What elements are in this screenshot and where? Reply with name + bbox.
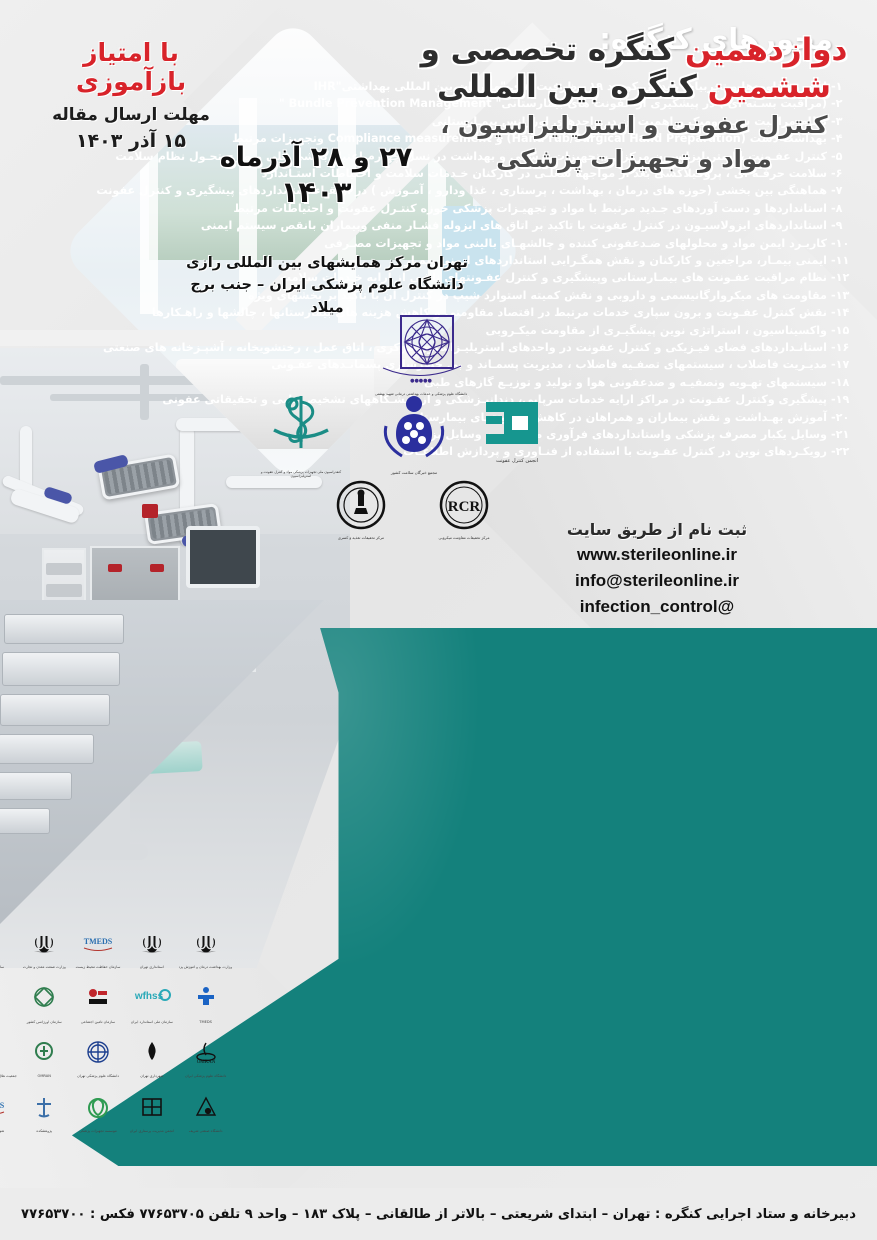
tehran-university-of-medical-sciences-logo-mark — [85, 1040, 111, 1068]
omran-logo: OMRAN — [18, 1027, 71, 1081]
svg-text:OMRAN: OMRAN — [196, 1060, 215, 1064]
tehran-governorate-emblem: استانداری تهران — [125, 918, 178, 972]
title-ordinal-twelfth: دوازدهمین — [685, 32, 847, 68]
iran-university-of-medical-sciences-logo-mark: OMRAN — [191, 1040, 221, 1068]
event-date-line-2: ۱۴۰۳ — [182, 175, 450, 209]
wfhss-logo: WFHSS — [0, 973, 17, 1027]
organizer-logos: ●●●●● دانشگاه علوم پزشکی و خدمات بهداشتی… — [267, 312, 597, 544]
topic-number: ۱۷- — [831, 359, 861, 370]
tehran-municipality-logo: شهرداری تهران — [125, 1027, 178, 1081]
registration-email-1[interactable]: info@sterileonline.ir — [507, 571, 807, 591]
omran-logo-caption: OMRAN — [18, 1074, 71, 1078]
ministry-of-health-emblem-caption: وزارت بهداشت درمان و آموزش پزشکی — [179, 965, 232, 969]
emergency-organization-logo-caption: سازمان اورژانس کشور — [18, 1020, 71, 1024]
medical-equipment-institute-logo: موسسه تجهیزات پزشکی — [72, 1082, 125, 1136]
iran-university-of-medical-sciences-logo: OMRANدانشگاه علوم پزشکی ایران — [179, 1027, 232, 1081]
iran-university-of-medical-sciences-logo-caption: دانشگاه علوم پزشکی ایران — [179, 1074, 232, 1078]
wfhss-logo-mark — [0, 985, 3, 1013]
environment-organization-logo-mark: TMEDS — [78, 933, 118, 957]
title-ordinal-sixth: ششمین — [708, 69, 831, 105]
environment-organization-logo: TMEDSسازمان حفاظت محیط زیست — [72, 918, 125, 972]
svg-text:●●●●●: ●●●●● — [410, 378, 432, 384]
social-security-organization-logo-mark — [85, 985, 111, 1013]
standard-organization-logo: wfhssسازمان ملی استاندارد ایران — [125, 973, 178, 1027]
tmeds-logo-caption: TMEDS — [179, 1020, 232, 1024]
environment-organization-logo-caption: سازمان حفاظت محیط زیست — [72, 965, 125, 969]
tehran-municipality-logo-caption: شهرداری تهران — [125, 1074, 178, 1078]
topic-number: ۱۴- — [831, 307, 861, 318]
wfhss-logo-caption: WFHSS — [0, 1020, 17, 1024]
emergency-organization-logo-mark — [31, 985, 57, 1013]
standard-organization-logo-mark: wfhss — [133, 986, 171, 1012]
topic-number: ۱۸- — [831, 377, 861, 388]
topic-number: ۱۱- — [831, 255, 861, 266]
topic-number: ۷- — [831, 185, 861, 196]
tehran-university-of-medical-sciences-logo: دانشگاه علوم پزشکی تهران — [72, 1027, 125, 1081]
congress-poster: با امتیاز بازآموزی مهلت ارسال مقاله ۱۵ آ… — [0, 0, 877, 1240]
ministry-of-health-emblem-mark — [194, 932, 218, 958]
health-experts-assembly-logo: مجمع خبرگان سلامت کشور — [359, 392, 469, 475]
red-crescent-logo: جمعیت هلال احمر جمهوری اسلامی ایران — [0, 1027, 17, 1081]
sharif-university-logo-caption: دانشگاه صنعتی شریف — [179, 1129, 232, 1133]
nutrition-research-center-logo: مرکز تحقیقات تغذیه و کسری — [315, 480, 407, 541]
svg-text:TMEDS: TMEDS — [84, 937, 113, 946]
medical-equipment-institute-logo-mark — [85, 1095, 111, 1123]
infection-control-association-caption: انجمن کنترل عفونت — [463, 458, 571, 464]
svg-text:TMEDS: TMEDS — [0, 1101, 5, 1110]
food-and-drug-administration-logo-mark — [0, 931, 3, 959]
registration-website[interactable]: www.sterileonline.ir — [507, 545, 807, 565]
tehran-governorate-emblem-mark — [140, 932, 164, 958]
topic-number: ۹- — [831, 220, 861, 231]
shahid-beheshti-university-logo: ●●●●● دانشگاه علوم پزشکی و خدمات بهداشتی… — [351, 312, 491, 396]
microbial-research-center-logo: RCR مرکز تحقیقات مقاومت میکروبی — [413, 480, 515, 541]
medical-equipment-institute-logo-caption: موسسه تجهیزات پزشکی — [72, 1129, 125, 1133]
nutrition-research-center-caption: مرکز تحقیقات تغذیه و کسری — [315, 536, 407, 541]
accreditation-label: با امتیاز بازآموزی — [25, 38, 237, 96]
topic-number: ۱۶- — [831, 342, 861, 353]
topic-number: ۲۲- — [831, 446, 861, 457]
topic-number: ۸- — [831, 203, 861, 214]
municipality-council-logo-mark: TMEDS — [0, 1097, 10, 1121]
research-institute-logo-caption: پژوهشکده — [18, 1129, 71, 1133]
nurses-association-logo-caption: انجمن مدیریت پرستاری ایران — [125, 1129, 178, 1133]
tehran-university-of-medical-sciences-logo-caption: دانشگاه علوم پزشکی تهران — [72, 1074, 125, 1078]
topic-text: کاربـرد ایمن مواد و محلولهای ضـدعفونی کن… — [324, 238, 827, 249]
tmeds-logo-mark — [193, 985, 219, 1013]
ministry-of-industry-emblem-mark — [32, 932, 56, 958]
svg-text:RCR: RCR — [448, 499, 481, 515]
topic-number: ۲۱- — [831, 429, 861, 440]
tehran-governorate-emblem-caption: استانداری تهران — [125, 965, 178, 969]
svg-text:wfhss: wfhss — [134, 991, 164, 1002]
topic-number: ۱۹- — [831, 394, 861, 405]
topic-number: ۱۳- — [831, 290, 861, 301]
topic-item: ۹-استانداردهای ایزولاسیـون در کنترل عفون… — [10, 217, 861, 234]
research-institute-logo-mark — [31, 1095, 57, 1123]
nurses-association-logo-mark — [139, 1095, 165, 1123]
omran-logo-mark — [31, 1040, 57, 1068]
topic-item: ۱۰-کاربـرد ایمن مواد و محلولهای ضـدعفونی… — [10, 235, 861, 252]
topic-number: ۱۲- — [831, 272, 861, 283]
registration-title: ثبت نام از طریق سایت — [507, 520, 807, 539]
title-subject-line-2: مواد و تجهیزات پزشکی — [409, 145, 859, 173]
social-security-organization-logo: سازمان تامین اجتماعی — [72, 973, 125, 1027]
sponsor-logos-grid: وزارت بهداشت درمان و آموزش پزشکی استاندا… — [0, 918, 232, 1190]
secretariat-address: دبیرخانه و ستاد اجرایی کنگره : تهران – ا… — [21, 1207, 856, 1222]
registration-info: ثبت نام از طریق سایت www.sterileonline.i… — [507, 520, 807, 617]
title-line-2: ششمین کنگره بین المللی — [409, 69, 859, 106]
accreditation-badge: با امتیاز بازآموزی مهلت ارسال مقاله ۱۵ آ… — [25, 38, 237, 152]
topic-number: ۲۰- — [831, 412, 861, 423]
red-crescent-logo-mark — [0, 1040, 3, 1068]
infection-control-association-logo: انجمن کنترل عفونت — [463, 394, 571, 464]
tehran-municipality-logo-mark — [139, 1040, 165, 1068]
registration-email-2[interactable]: infection_control@ — [507, 597, 807, 617]
food-and-drug-administration-logo-caption: سازمان غذا و دارو — [0, 965, 17, 969]
standard-organization-logo-caption: سازمان ملی استاندارد ایران — [125, 1020, 178, 1024]
title-line-1-rest: کنگره تخصصی و — [421, 32, 675, 68]
food-and-drug-administration-logo: سازمان غذا و دارو — [0, 918, 17, 972]
microbial-research-center-caption: مرکز تحقیقات مقاومت میکروبی — [413, 536, 515, 541]
ministry-of-industry-emblem: وزارت صنعت معدن و تجارت — [18, 918, 71, 972]
health-experts-assembly-caption: مجمع خبرگان سلامت کشور — [359, 470, 469, 475]
municipality-council-logo: TMEDSشورای شهر تهران — [0, 1082, 17, 1136]
event-venue: تهران مرکز همایشهای بین المللی رازی دانش… — [172, 252, 482, 319]
ministry-of-industry-emblem-caption: وزارت صنعت معدن و تجارت — [18, 965, 71, 969]
paper-deadline-label: مهلت ارسال مقاله — [25, 105, 237, 125]
sterilization-association-logo: کنفدراسیون ملی تجهیزات پزشکی مواد و کنتر… — [253, 392, 349, 479]
social-security-organization-logo-caption: سازمان تامین اجتماعی — [72, 1020, 125, 1024]
emergency-organization-logo: سازمان اورژانس کشور — [18, 973, 71, 1027]
title-line-2-rest: کنگره بین المللی — [437, 69, 697, 105]
sharif-university-logo-mark — [193, 1095, 219, 1123]
tmeds-logo: TMEDS — [179, 973, 232, 1027]
title-subject-line-1: کنترل عفونت و استریلیزاسیون ، — [409, 111, 859, 139]
footer-bar: دبیرخانه و ستاد اجرایی کنگره : تهران – ا… — [0, 1188, 877, 1240]
topic-number: ۱۵- — [831, 325, 861, 336]
venue-line-1: تهران مرکز همایشهای بین المللی رازی — [172, 252, 482, 274]
red-crescent-logo-caption: جمعیت هلال احمر جمهوری اسلامی ایران — [0, 1074, 17, 1078]
sterilization-association-caption: کنفدراسیون ملی تجهیزات پزشکی مواد و کنتر… — [253, 470, 349, 479]
title-line-1: دوازدهمین کنگره تخصصی و — [409, 32, 859, 69]
congress-title: دوازدهمین کنگره تخصصی و ششمین کنگره بین … — [409, 32, 859, 174]
nurses-association-logo: انجمن مدیریت پرستاری ایران — [125, 1082, 178, 1136]
research-institute-logo: پژوهشکده — [18, 1082, 71, 1136]
topic-text: استانداردهای ایزولاسیـون در کنترل عفونت … — [201, 220, 827, 231]
municipality-council-logo-caption: شورای شهر تهران — [0, 1129, 17, 1133]
sharif-university-logo: دانشگاه صنعتی شریف — [179, 1082, 232, 1136]
ministry-of-health-emblem: وزارت بهداشت درمان و آموزش پزشکی — [179, 918, 232, 972]
topic-number: ۱۰- — [831, 238, 861, 249]
